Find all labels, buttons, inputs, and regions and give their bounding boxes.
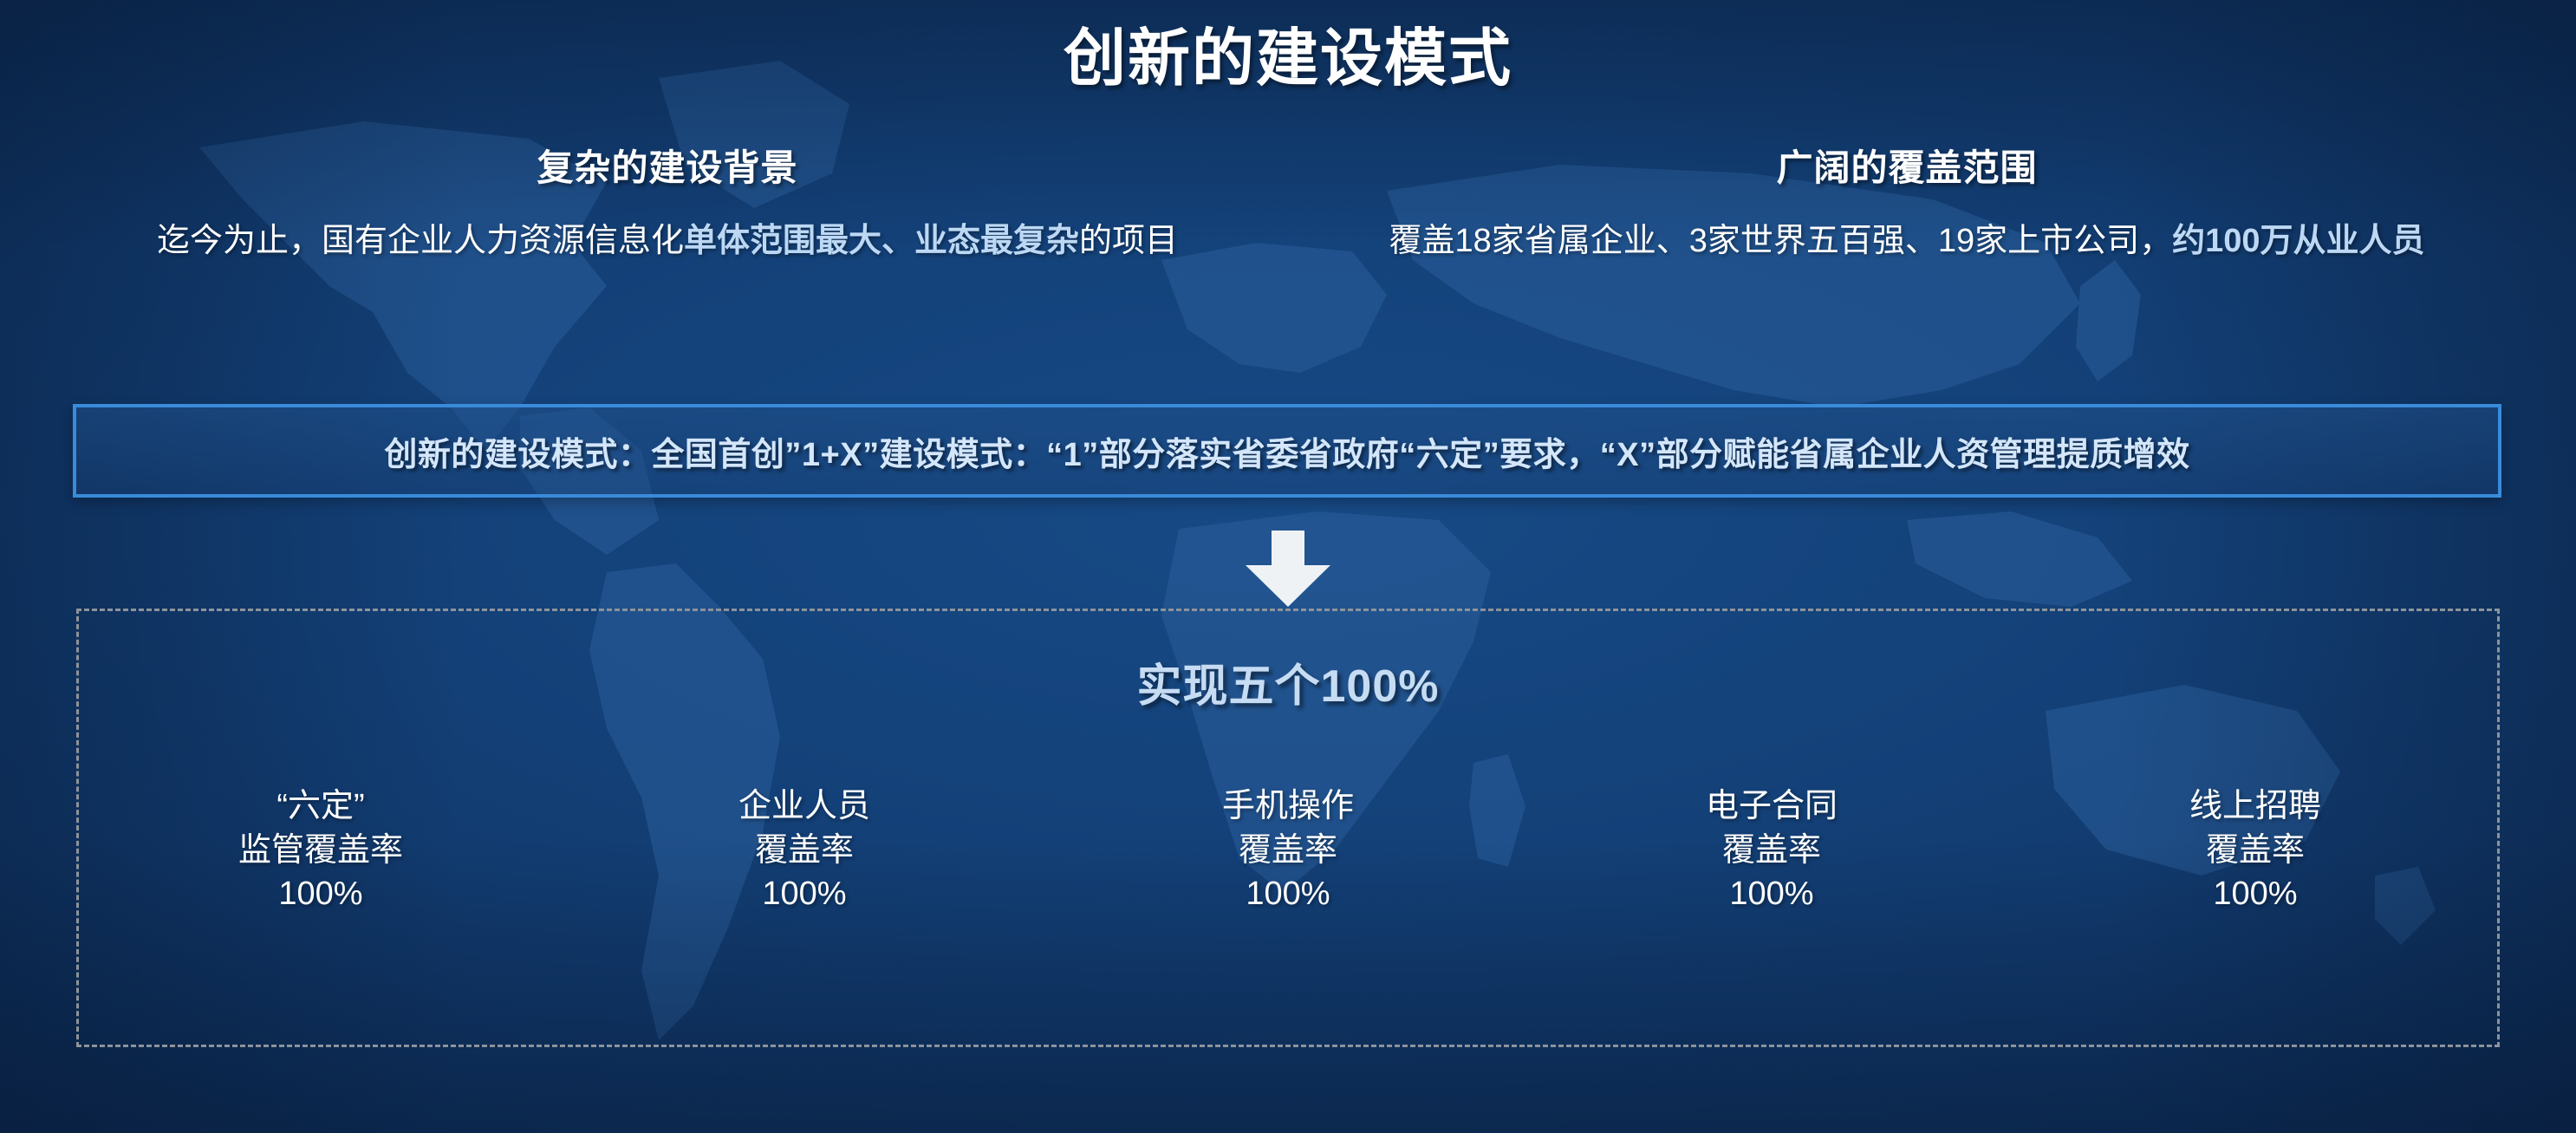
column-body-right-plain1: 覆盖18家省属企业、3家世界五百强、19家上市公司，	[1389, 223, 2172, 259]
column-background: 复杂的建设背景 迄今为止，国有企业人力资源信息化单体范围最大、业态最复杂的项目	[69, 139, 1265, 263]
metric-item: 电子合同 覆盖率 100%	[1530, 785, 2013, 916]
column-body-left-plain1: 迄今为止，国有企业人力资源信息化	[157, 223, 684, 259]
metric-item: 手机操作 覆盖率 100%	[1046, 785, 1530, 916]
column-body-right-highlight: 约100万从业人员	[2172, 223, 2424, 259]
metric-label-line1: “六定”	[79, 785, 563, 829]
model-banner-text: 创新的建设模式：全国首创”1+X”建设模式：“1”部分落实省委省政府“六定”要求…	[384, 427, 2189, 475]
column-body-left-highlight: 单体范围最大、业态最复杂	[684, 223, 1079, 259]
slide-canvas: 创新的建设模式 复杂的建设背景 迄今为止，国有企业人力资源信息化单体范围最大、业…	[0, 0, 2576, 1133]
metric-label-line2: 覆盖率	[1046, 829, 1530, 873]
metric-value: 100%	[2013, 872, 2497, 916]
metric-value: 100%	[79, 872, 563, 916]
metric-value: 100%	[563, 872, 1046, 916]
results-panel: 实现五个100% “六定” 监管覆盖率 100% 企业人员 覆盖率 100% 手…	[76, 609, 2500, 1047]
metric-label-line1: 电子合同	[1530, 785, 2013, 829]
column-heading-left: 复杂的建设背景	[69, 139, 1265, 192]
metric-item: “六定” 监管覆盖率 100%	[79, 785, 563, 916]
metric-label-line1: 线上招聘	[2013, 785, 2497, 829]
metric-label-line2: 覆盖率	[563, 829, 1046, 873]
column-body-left: 迄今为止，国有企业人力资源信息化单体范围最大、业态最复杂的项目	[69, 219, 1265, 263]
column-body-right: 覆盖18家省属企业、3家世界五百强、19家上市公司，约100万从业人员	[1309, 219, 2505, 263]
column-body-left-plain2: 的项目	[1079, 223, 1178, 259]
metric-label-line2: 覆盖率	[2013, 829, 2497, 873]
column-coverage: 广阔的覆盖范围 覆盖18家省属企业、3家世界五百强、19家上市公司，约100万从…	[1309, 139, 2505, 263]
metrics-row: “六定” 监管覆盖率 100% 企业人员 覆盖率 100% 手机操作 覆盖率 1…	[79, 785, 2497, 916]
model-banner: 创新的建设模式：全国首创”1+X”建设模式：“1”部分落实省委省政府“六定”要求…	[73, 404, 2501, 498]
metric-item: 企业人员 覆盖率 100%	[563, 785, 1046, 916]
metric-label-line1: 手机操作	[1046, 785, 1530, 829]
column-heading-right: 广阔的覆盖范围	[1309, 139, 2505, 192]
metric-label-line1: 企业人员	[563, 785, 1046, 829]
metric-label-line2: 覆盖率	[1530, 829, 2013, 873]
metric-item: 线上招聘 覆盖率 100%	[2013, 785, 2497, 916]
metric-value: 100%	[1046, 872, 1530, 916]
down-arrow-icon	[1240, 531, 1336, 607]
page-title: 创新的建设模式	[0, 7, 2576, 98]
metric-label-line2: 监管覆盖率	[79, 829, 563, 873]
results-panel-title: 实现五个100%	[79, 649, 2497, 714]
metric-value: 100%	[1530, 872, 2013, 916]
